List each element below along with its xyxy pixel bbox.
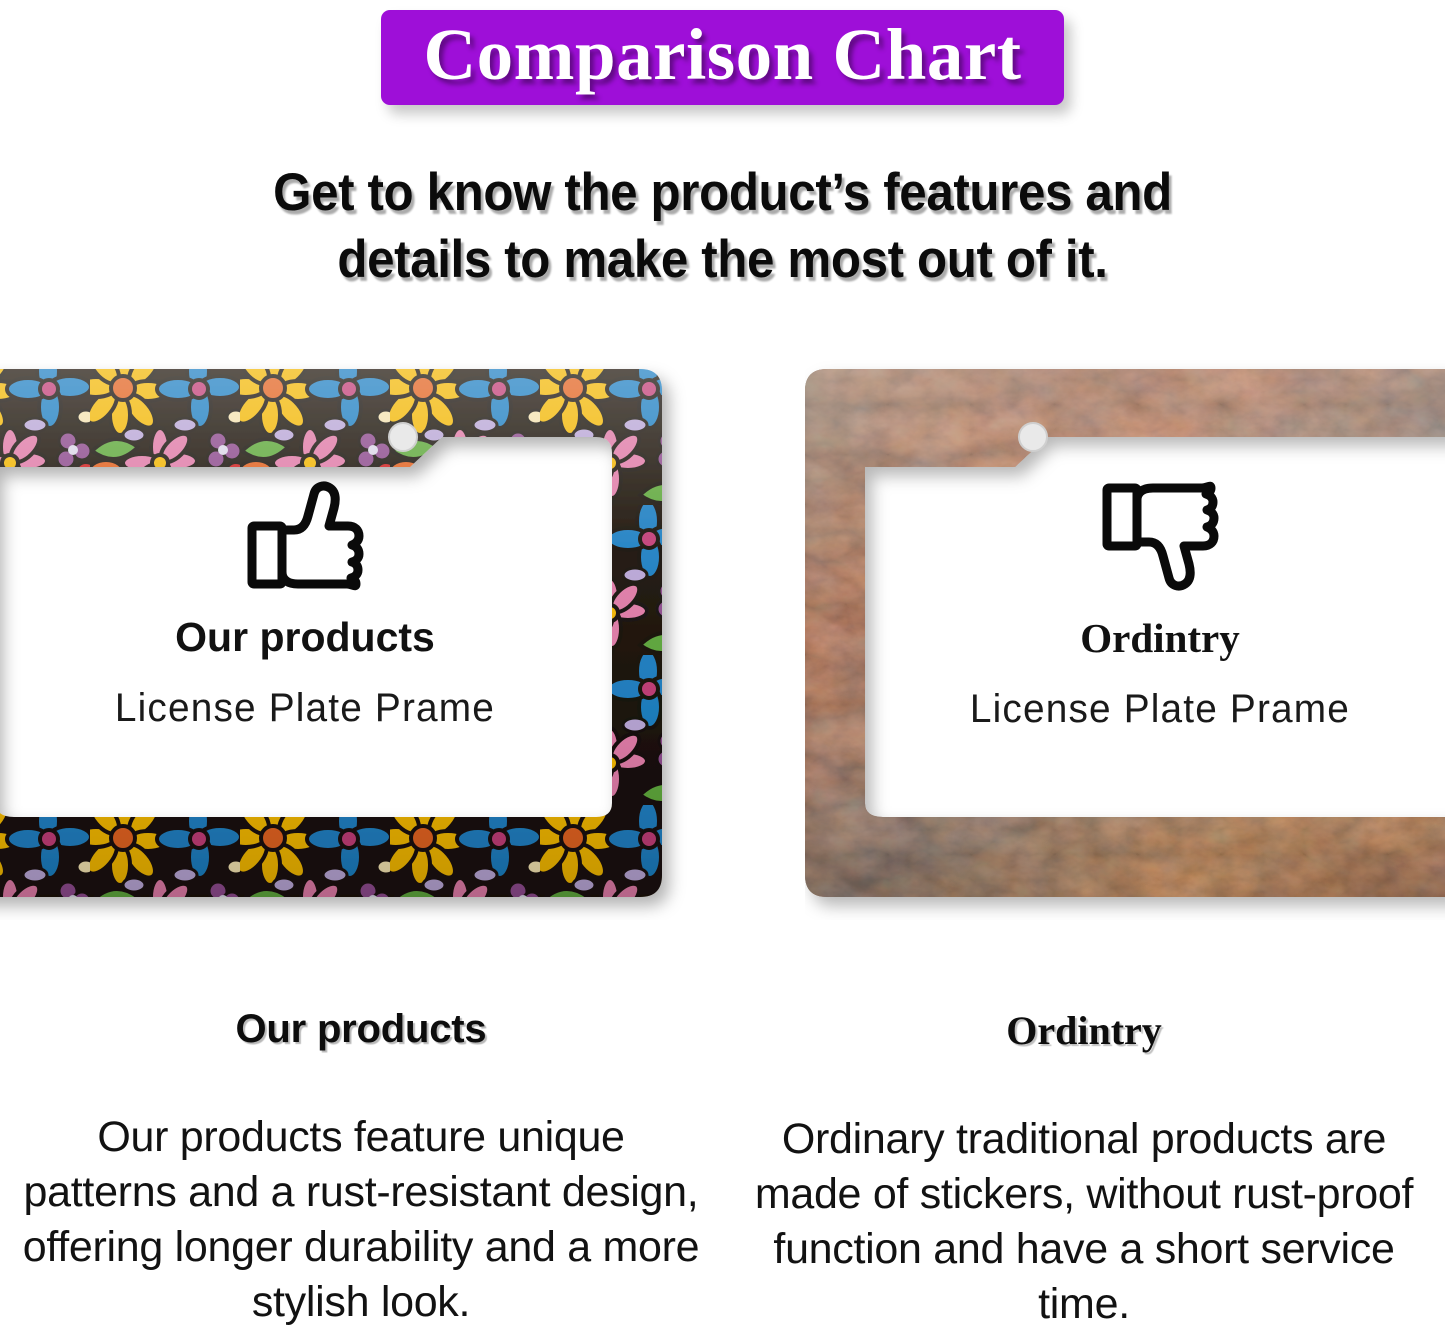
thumbs-down-icon (1101, 480, 1219, 592)
mounting-hole (1019, 423, 1047, 451)
comparison-columns: Our products Our products feature unique… (0, 995, 1445, 1314)
subheadline-line-2: details to make the most out of it. (51, 227, 1395, 294)
frame-inner-content-ordinary: Ordintry License Plate Prame (860, 460, 1445, 800)
column-body-ours: Our products feature unique patterns and… (0, 1110, 722, 1330)
frame-product-label-ordinary: License Plate Prame (970, 687, 1350, 732)
column-heading-ours: Our products (0, 1007, 722, 1052)
frame-brand-label-ours: Our products (175, 614, 435, 661)
frames-row: Our products License Plate Prame (0, 355, 1445, 925)
thumbs-up-icon (246, 480, 364, 592)
page-title: Comparison Chart (423, 16, 1021, 93)
comparison-chart-page: Comparison Chart Get to know the product… (0, 0, 1445, 1314)
product-frame-ours: Our products License Plate Prame (0, 355, 700, 915)
frame-brand-label-ordinary: Ordintry (1080, 614, 1239, 662)
column-ours: Our products Our products feature unique… (0, 995, 722, 1330)
column-heading-ordinary: Ordintry (723, 1007, 1445, 1054)
column-body-ordinary: Ordinary traditional products are made o… (723, 1112, 1445, 1332)
frame-inner-content-ours: Our products License Plate Prame (0, 460, 610, 800)
frame-product-label-ours: License Plate Prame (115, 686, 495, 731)
title-banner: Comparison Chart (381, 10, 1063, 105)
product-frame-ordinary: Ordintry License Plate Prame (805, 355, 1445, 915)
column-ordinary: Ordintry Ordinary traditional products a… (723, 995, 1445, 1332)
subheadline: Get to know the product’s features and d… (51, 160, 1395, 294)
title-banner-container: Comparison Chart (0, 10, 1445, 105)
mounting-hole (389, 423, 417, 451)
subheadline-line-1: Get to know the product’s features and (51, 160, 1395, 227)
